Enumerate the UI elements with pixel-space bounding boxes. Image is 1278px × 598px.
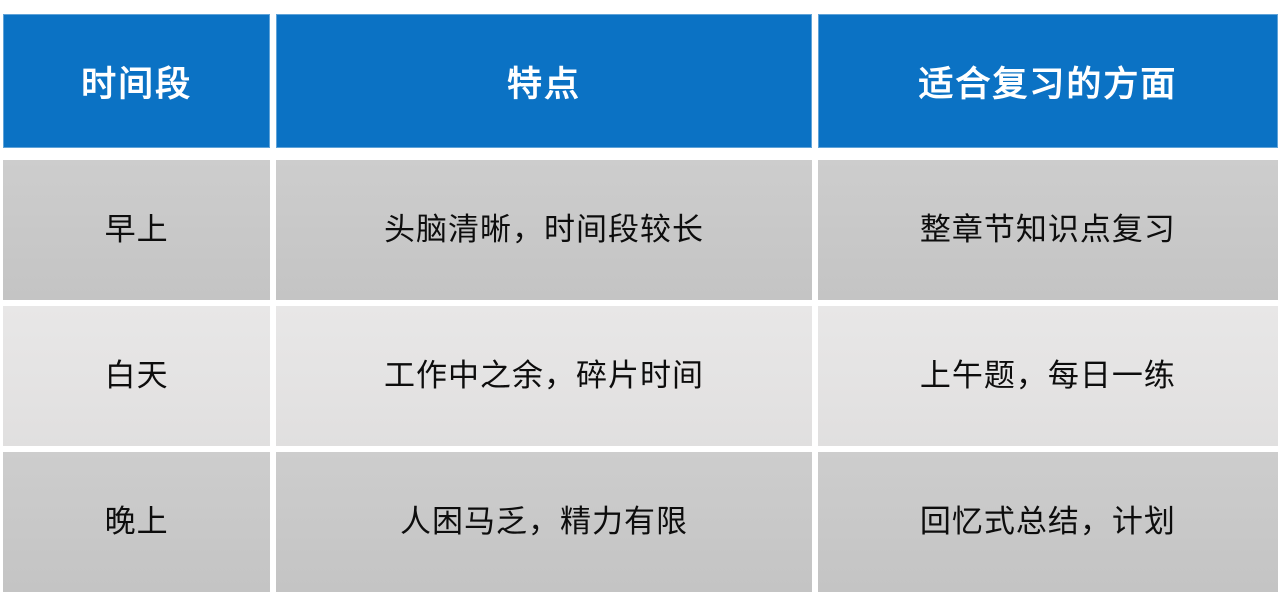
- table-header: 时间段 特点 适合复习的方面: [3, 14, 1278, 148]
- cell-text: 人困马乏，精力有限: [276, 503, 812, 542]
- cell-trait-morning: 头脑清晰，时间段较长: [276, 160, 818, 306]
- spacer-cell-3: [818, 148, 1278, 160]
- cell-text: 早上: [3, 211, 270, 250]
- cell-trait-evening: 人困马乏，精力有限: [276, 452, 818, 592]
- cell-focus-morning: 整章节知识点复习: [818, 160, 1278, 306]
- table-body: 早上 头脑清晰，时间段较长 整章节知识点复习 白天 工作中之余，碎片时间 上午题…: [3, 148, 1278, 592]
- cell-text: 白天: [3, 357, 270, 396]
- cell-text: 整章节知识点复习: [818, 211, 1278, 250]
- spacer-cell-1: [3, 148, 276, 160]
- table-row: 白天 工作中之余，碎片时间 上午题，每日一练: [3, 306, 1278, 452]
- cell-period-morning: 早上: [3, 160, 276, 306]
- column-header-period: 时间段: [3, 14, 276, 148]
- header-row: 时间段 特点 适合复习的方面: [3, 14, 1278, 148]
- cell-text: 回忆式总结，计划: [818, 503, 1278, 542]
- cell-focus-daytime: 上午题，每日一练: [818, 306, 1278, 452]
- spacer-cell-2: [276, 148, 818, 160]
- cell-text: 头脑清晰，时间段较长: [276, 211, 812, 250]
- table-container: 时间段 特点 适合复习的方面 早上 头脑清晰，时间段较长 整章节知识点复习: [0, 0, 1278, 598]
- cell-period-daytime: 白天: [3, 306, 276, 452]
- cell-text: 上午题，每日一练: [818, 357, 1278, 396]
- cell-text: 工作中之余，碎片时间: [276, 357, 812, 396]
- table-row: 早上 头脑清晰，时间段较长 整章节知识点复习: [3, 160, 1278, 306]
- cell-period-evening: 晚上: [3, 452, 276, 592]
- cell-trait-daytime: 工作中之余，碎片时间: [276, 306, 818, 452]
- header-body-spacer: [3, 148, 1278, 160]
- cell-text: 晚上: [3, 503, 270, 542]
- study-time-table: 时间段 特点 适合复习的方面 早上 头脑清晰，时间段较长 整章节知识点复习: [3, 14, 1278, 592]
- table-row: 晚上 人困马乏，精力有限 回忆式总结，计划: [3, 452, 1278, 592]
- column-header-trait: 特点: [276, 14, 818, 148]
- cell-focus-evening: 回忆式总结，计划: [818, 452, 1278, 592]
- column-header-focus: 适合复习的方面: [818, 14, 1278, 148]
